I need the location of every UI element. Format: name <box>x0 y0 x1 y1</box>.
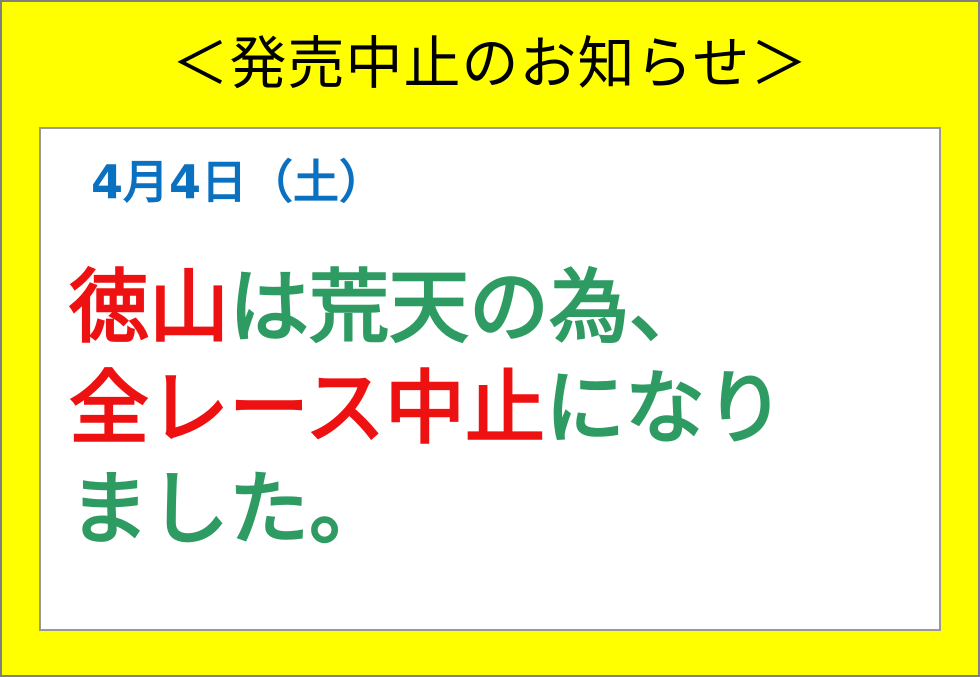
message-segment-green: ました。 <box>69 463 389 556</box>
cancellation-notice-poster: ＜発売中止のお知らせ＞ 4月4日（土） 徳山は荒天の為、全レース中止になりました… <box>0 0 980 677</box>
cancellation-message: 徳山は荒天の為、全レース中止になりました。 <box>69 257 933 560</box>
notice-panel: 4月4日（土） 徳山は荒天の為、全レース中止になりました。 <box>39 127 941 631</box>
title-band: ＜発売中止のお知らせ＞ <box>2 2 978 127</box>
message-segment-green: になり <box>545 362 785 455</box>
message-segment-red: 徳山 <box>69 261 229 354</box>
message-line: 全レース中止になり <box>69 358 933 459</box>
message-segment-green: は荒天の為、 <box>229 261 709 354</box>
message-segment-red: 全レース中止 <box>69 362 545 455</box>
message-line: ました。 <box>69 459 933 560</box>
message-line: 徳山は荒天の為、 <box>69 257 933 358</box>
page-title: ＜発売中止のお知らせ＞ <box>172 36 809 93</box>
event-date: 4月4日（土） <box>91 159 385 205</box>
